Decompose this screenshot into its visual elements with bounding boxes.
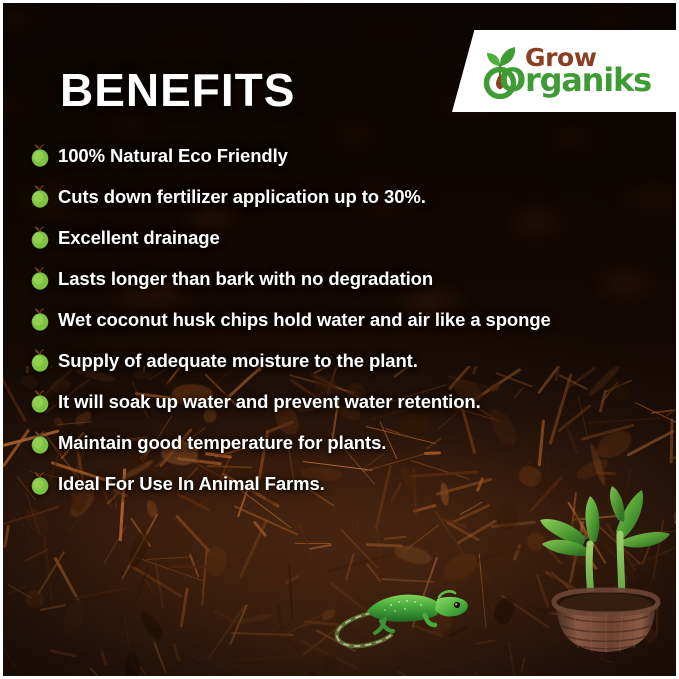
benefit-list-item: Lasts longer than bark with no degradati… [29,258,659,299]
green-apple-bullet-icon [29,225,51,250]
benefit-item-text: Wet coconut husk chips hold water and ai… [58,309,551,331]
benefits-list: 100% Natural Eco Friendly Cuts down fert… [29,135,659,504]
green-apple-bullet-icon [29,143,51,168]
benefit-item-text: Maintain good temperature for plants. [58,432,386,454]
green-apple-bullet-icon [29,471,51,496]
brand-logo-wordmark: Grow Organiks [521,47,651,94]
benefit-list-item: Maintain good temperature for plants. [29,422,659,463]
green-apple-bullet-icon [29,266,51,291]
benefit-item-text: Ideal For Use In Animal Farms. [58,473,325,495]
benefit-list-item: Excellent drainage [29,217,659,258]
green-apple-bullet-icon [29,307,51,332]
logo-word-organiks: Organiks [499,67,651,95]
benefit-item-text: Cuts down fertilizer application up to 3… [58,186,426,208]
lizard-photo-subject [333,561,473,651]
green-apple-bullet-icon [29,348,51,373]
benefit-item-text: Lasts longer than bark with no degradati… [58,268,433,290]
benefit-item-text: Excellent drainage [58,227,220,249]
benefits-infographic-canvas: BENEFITS Grow Organiks [0,0,679,679]
benefit-item-text: It will soak up water and prevent water … [58,391,481,413]
benefit-list-item: Supply of adequate moisture to the plant… [29,340,659,381]
benefit-list-item: Wet coconut husk chips hold water and ai… [29,299,659,340]
benefit-list-item: Ideal For Use In Animal Farms. [29,463,659,504]
brand-logo: Grow Organiks [478,43,651,99]
benefit-list-item: 100% Natural Eco Friendly [29,135,659,176]
page-title: BENEFITS [60,63,295,117]
benefit-item-text: 100% Natural Eco Friendly [58,145,288,167]
benefit-list-item: Cuts down fertilizer application up to 3… [29,176,659,217]
green-apple-bullet-icon [29,184,51,209]
green-apple-bullet-icon [29,430,51,455]
benefit-item-text: Supply of adequate moisture to the plant… [58,350,418,372]
brand-logo-banner: Grow Organiks [452,30,676,112]
green-apple-bullet-icon [29,389,51,414]
potted-plant-photo-subject [530,486,676,666]
benefit-list-item: It will soak up water and prevent water … [29,381,659,422]
